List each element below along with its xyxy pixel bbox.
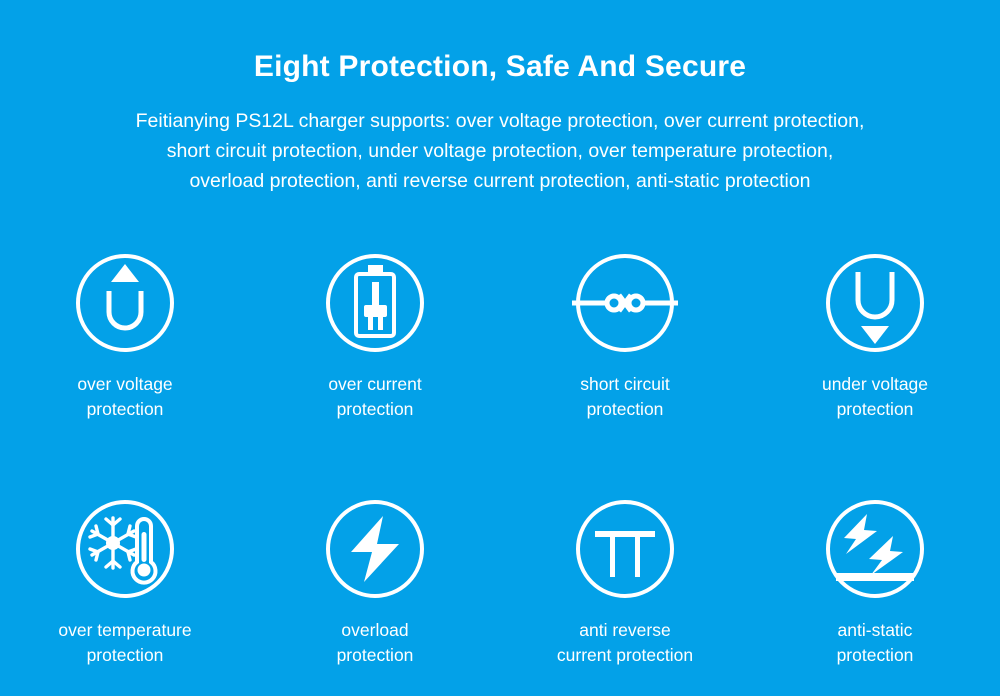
promo-banner: Eight Protection, Safe And Secure Feitia…: [0, 0, 1000, 696]
feature-anti-static: anti-static protection: [750, 494, 1000, 668]
page-title: Eight Protection, Safe And Secure: [0, 50, 1000, 84]
caption-line-1: under voltage: [822, 372, 928, 397]
description-line-1: Feitianying PS12L charger supports: over…: [50, 106, 950, 136]
feature-under-voltage: under voltage protection: [750, 248, 1000, 422]
over-current-battery-plug-icon: [320, 248, 430, 358]
feature-caption: short circuit protection: [580, 372, 669, 422]
description-paragraph: Feitianying PS12L charger supports: over…: [50, 106, 950, 196]
feature-short-circuit: short circuit protection: [500, 248, 750, 422]
caption-line-1: over current: [328, 372, 421, 397]
over-voltage-icon: [70, 248, 180, 358]
feature-overload: overload protection: [250, 494, 500, 668]
feature-caption: over current protection: [328, 372, 421, 422]
caption-line-1: overload: [337, 618, 414, 643]
feature-row-2: over temperature protection overload pro…: [0, 494, 1000, 668]
caption-line-2: protection: [77, 397, 172, 422]
caption-line-2: protection: [328, 397, 421, 422]
caption-line-2: protection: [837, 643, 914, 668]
feature-caption: over voltage protection: [77, 372, 172, 422]
feature-anti-reverse-current: anti reverse current protection: [500, 494, 750, 668]
overload-lightning-icon: [320, 494, 430, 604]
feature-caption: overload protection: [337, 618, 414, 668]
feature-row-1: over voltage protection: [0, 248, 1000, 422]
feature-over-voltage: over voltage protection: [0, 248, 250, 422]
short-circuit-icon: [570, 248, 680, 358]
caption-line-2: current protection: [557, 643, 693, 668]
feature-caption: anti reverse current protection: [557, 618, 693, 668]
feature-caption: anti-static protection: [837, 618, 914, 668]
caption-line-2: protection: [580, 397, 669, 422]
feature-caption: over temperature protection: [58, 618, 191, 668]
caption-line-1: over temperature: [58, 618, 191, 643]
caption-line-1: short circuit: [580, 372, 669, 397]
caption-line-2: protection: [58, 643, 191, 668]
over-temperature-snowflake-thermometer-icon: [70, 494, 180, 604]
feature-over-temperature: over temperature protection: [0, 494, 250, 668]
protection-feature-grid: over voltage protection: [0, 248, 1000, 668]
feature-caption: under voltage protection: [822, 372, 928, 422]
caption-line-1: anti-static: [837, 618, 914, 643]
caption-line-2: protection: [822, 397, 928, 422]
feature-over-current: over current protection: [250, 248, 500, 422]
anti-reverse-current-icon: [570, 494, 680, 604]
under-voltage-icon: [820, 248, 930, 358]
description-line-3: overload protection, anti reverse curren…: [50, 166, 950, 196]
caption-line-1: anti reverse: [557, 618, 693, 643]
anti-static-icon: [820, 494, 930, 604]
caption-line-2: protection: [337, 643, 414, 668]
caption-line-1: over voltage: [77, 372, 172, 397]
description-line-2: short circuit protection, under voltage …: [50, 136, 950, 166]
